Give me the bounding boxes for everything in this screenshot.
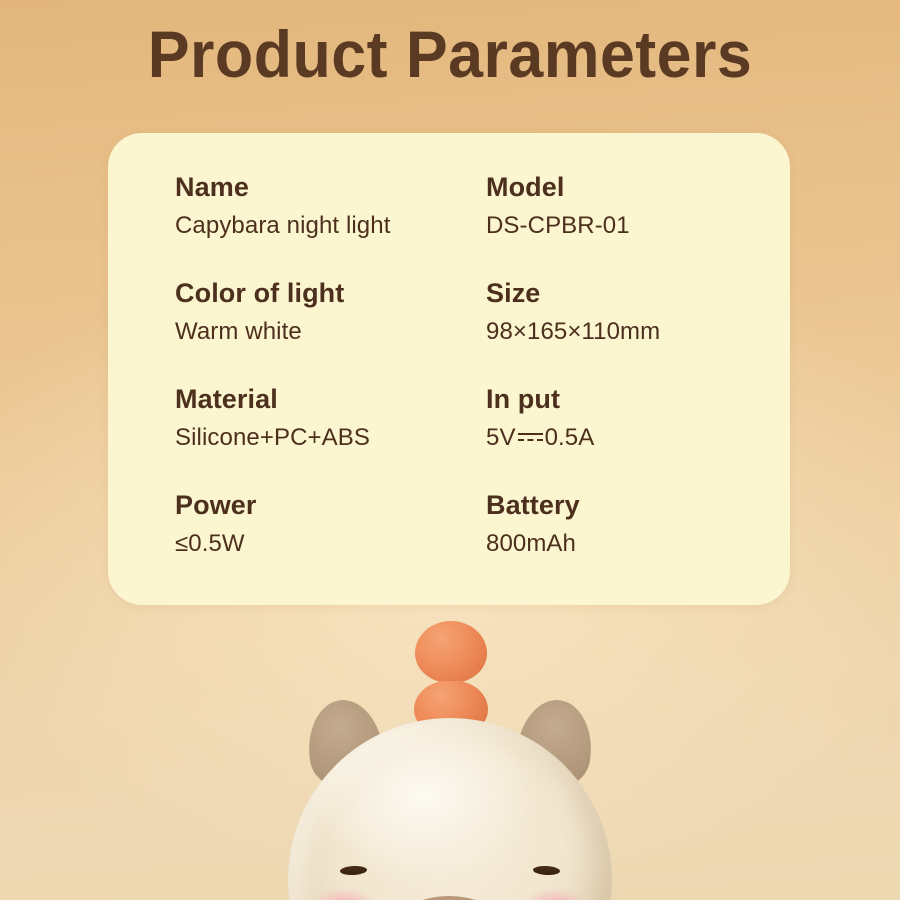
spec-label: Battery bbox=[486, 489, 745, 522]
spec-item-name: Name Capybara night light bbox=[175, 171, 486, 277]
spec-value: Capybara night light bbox=[175, 211, 486, 240]
spec-value: 800mAh bbox=[486, 529, 745, 558]
spec-item-material: Material Silicone+PC+ABS bbox=[175, 383, 486, 489]
spec-value: Warm white bbox=[175, 317, 486, 346]
capybara-muzzle bbox=[366, 896, 532, 900]
specification-card: Name Capybara night light Model DS-CPBR-… bbox=[108, 133, 790, 605]
spec-label: In put bbox=[486, 383, 745, 416]
capybara-eye-right bbox=[533, 865, 560, 875]
spec-label: Color of light bbox=[175, 277, 486, 310]
input-voltage: 5V bbox=[486, 424, 516, 451]
specification-grid: Name Capybara night light Model DS-CPBR-… bbox=[175, 171, 745, 595]
spec-item-battery: Battery 800mAh bbox=[486, 489, 745, 595]
spec-label: Name bbox=[175, 171, 486, 204]
product-parameters-page: Product Parameters Name Capybara night l… bbox=[0, 0, 900, 900]
capybara-illustration bbox=[0, 608, 900, 900]
spec-label: Size bbox=[486, 277, 745, 310]
spec-value: ≤0.5W bbox=[175, 529, 486, 558]
page-title: Product Parameters bbox=[23, 12, 878, 96]
spec-item-size: Size 98×165×110mm bbox=[486, 277, 745, 383]
spec-label: Power bbox=[175, 489, 486, 522]
spec-value: 98×165×110mm bbox=[486, 317, 745, 346]
spec-value: DS-CPBR-01 bbox=[486, 211, 745, 240]
tangerine-top-icon bbox=[415, 621, 487, 683]
spec-label: Material bbox=[175, 383, 486, 416]
input-current: 0.5A bbox=[545, 424, 595, 451]
spec-item-input: In put 5V0.5A bbox=[486, 383, 745, 489]
spec-label: Model bbox=[486, 171, 745, 204]
dc-current-symbol-icon bbox=[518, 430, 543, 444]
capybara-cheek-right bbox=[524, 890, 586, 900]
spec-item-model: Model DS-CPBR-01 bbox=[486, 171, 745, 277]
spec-item-color-of-light: Color of light Warm white bbox=[175, 277, 486, 383]
capybara-eye-left bbox=[340, 865, 367, 875]
capybara-cheek-left bbox=[313, 890, 375, 900]
spec-item-power: Power ≤0.5W bbox=[175, 489, 486, 595]
spec-value: 5V0.5A bbox=[486, 423, 745, 452]
spec-value: Silicone+PC+ABS bbox=[175, 423, 486, 452]
